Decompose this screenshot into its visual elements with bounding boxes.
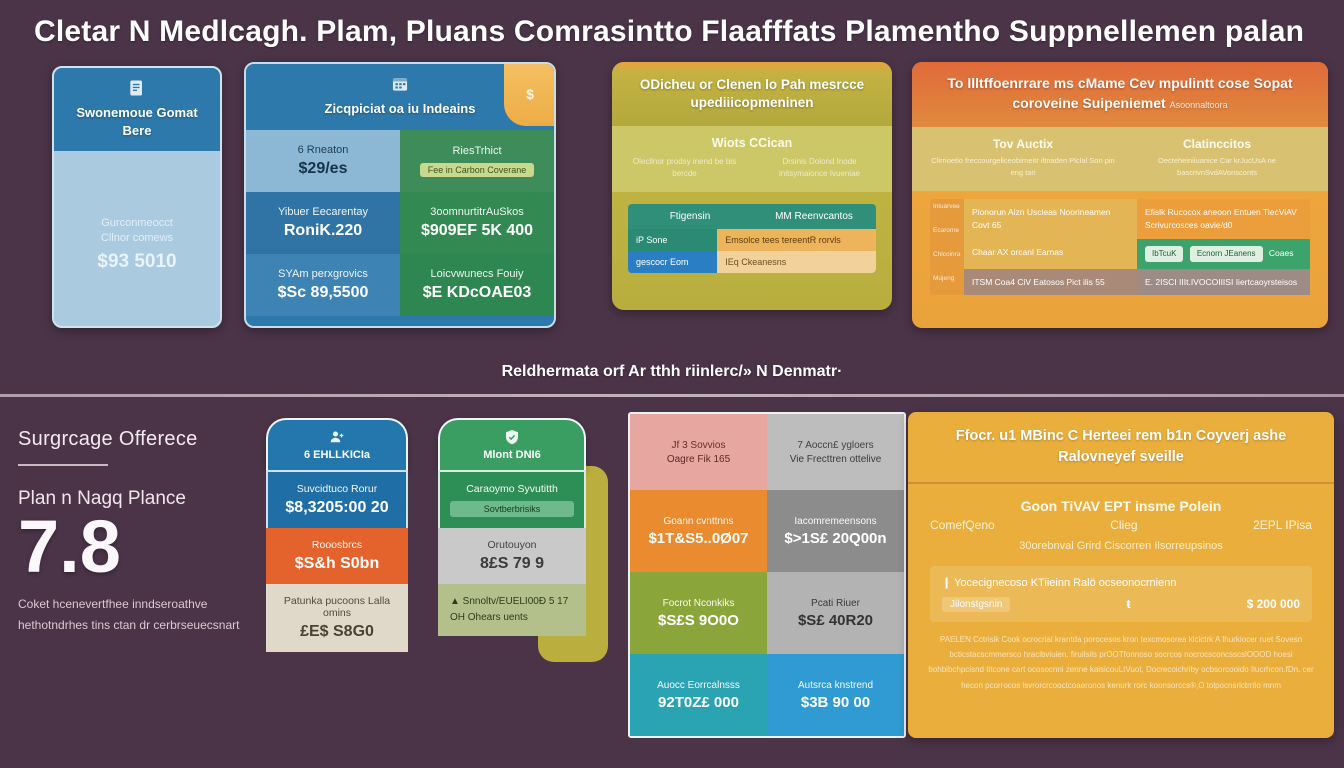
segment-value: £E$ S8G0 (276, 623, 398, 641)
bookmark-card-green[interactable]: Mlont DNI6 Caraoymo Syvutitth Sovtberbri… (438, 418, 586, 636)
olive-row-value: Emsolce tees tereentR rorvls (717, 229, 876, 251)
orange-cell[interactable]: ITSM Coa4 CiV Eatosos Pict ilis 55 (964, 269, 1137, 296)
shield-icon (503, 428, 521, 446)
orange-right-sub: Oecteheiniiuanice Car krJucUsA ne bascri… (1120, 155, 1314, 179)
cell-label: 3oomnurtitrAuSkos (410, 206, 544, 218)
stat-block: Surgrcage Offerece Plan n Nagq Plance 7.… (18, 428, 262, 635)
orange-mid-right: Clatinccitos Oecteheiniiuanice Car krJuc… (1120, 137, 1314, 179)
cell-label: RiesTrhict (410, 145, 544, 157)
bookmark-blue-segment[interactable]: Rooosbrcs $S&h S0bn (266, 528, 408, 584)
orange-cell[interactable]: Chaar AX orcanl Earnas (964, 239, 1137, 269)
cell-value: $29/es (256, 160, 390, 178)
card-orange-header: To llltffoenrrare ms cMame Cev mpulintt … (912, 62, 1328, 127)
segment-value: $8,3205:00 20 (278, 499, 396, 517)
cell-label: 6 Rneaton (256, 144, 390, 156)
panel-mid-right: 2EPL IPisa (1253, 518, 1312, 532)
card-orange-title: To llltffoenrrare ms cMame Cev mpulintt … (947, 75, 1292, 111)
matrix-value: $3B 90 00 (801, 694, 870, 711)
matrix-label: Goann cvnttnns (663, 516, 733, 527)
panel-box-value: $ 200 000 (1247, 597, 1300, 612)
olive-table-row[interactable]: gescocr Eom IEq Ckeanesns (628, 251, 876, 273)
plan-grid-cell[interactable]: RiesTrhict Fee in Carbon Coverane (400, 130, 554, 192)
matrix-cell[interactable]: Pcati Riuer $S£ 40R20 (767, 572, 904, 654)
matrix-label: Focrot Nconkiks (663, 598, 735, 609)
section-divider (0, 394, 1344, 397)
orange-right-title: Clatinccitos (1120, 137, 1314, 151)
orange-pill: IbTcuK (1145, 246, 1183, 262)
matrix-cell[interactable]: Focrot Nconkiks $S£S 9O0O (630, 572, 767, 654)
matrix-label: 7 Aoccn£ ygloers (797, 440, 873, 451)
matrix-cell[interactable]: Autsrca knstrend $3B 90 00 (767, 654, 904, 736)
olive-mid-left: Olecllnor prodsy inend be bis bercde (624, 156, 745, 180)
plan-grid-cell[interactable]: 6 Rneaton $29/es (246, 130, 400, 192)
matrix-label: Autsrca knstrend (798, 680, 873, 691)
olive-col-1: Ftigensin (628, 204, 752, 229)
cell-value: $909EF 5K 400 (410, 222, 544, 240)
bookmark-card-blue[interactable]: 6 EHLLKICIa Suvcidtuco Rorur $8,3205:00 … (266, 418, 408, 652)
bookmark-blue-segment[interactable]: Suvcidtuco Rorur $8,3205:00 20 (266, 470, 408, 528)
bookmark-green-segment[interactable]: ▲ Snnoltv/EUELI00Ð 5 17 OH Ohears uents (438, 584, 586, 636)
segment-value: $S&h S0bn (276, 555, 398, 573)
orange-pill: Ecnorn JEanens (1190, 246, 1263, 262)
olive-mid-right: Drsinis Dolond Inode initsymaionce Ivuen… (759, 156, 880, 180)
olive-row-value: IEq Ckeanesns (717, 251, 876, 273)
matrix-label: Iacomremeensons (794, 516, 876, 527)
card-plan-grid[interactable]: $ Zicqpiciat oa iu Indeains 6 Rneaton $2… (244, 62, 556, 328)
panel-mid-left: ComefQeno (930, 518, 995, 532)
panel-mid-sub: 30orebnval Grird Ciscorren Ilsorreupsino… (930, 540, 1312, 552)
orange-matrix: Inluarvee Ecarome Chlcoinra Mujeng Piono… (930, 199, 1310, 295)
segment-label: Suvcidtuco Rorur (278, 483, 396, 495)
stat-note: Coket hcenevertfhee inndseroathve hethot… (18, 594, 262, 635)
card-summary-body: Gurconmeocct Cllnor comews $93 5010 (54, 151, 220, 328)
matrix-cell[interactable]: Jf 3 Sovvios Oagre Fik 165 (630, 414, 767, 490)
rail-item: Ecarome (930, 223, 964, 247)
olive-table-header: Ftigensin MM Reenvcantos (628, 204, 876, 229)
card-summary[interactable]: Swonemoue Gomat Bere Gurconmeocct Cllnor… (52, 66, 222, 328)
svg-text:$: $ (526, 87, 534, 103)
orange-cell[interactable]: E. 2ISCI IIIt.IVOCOIIISI Iiertcaoyrsteis… (1137, 269, 1310, 296)
card-olive-header: ODicheu or Clenen lo Pah mesrcce upediii… (612, 62, 892, 126)
stat-heading: Surgrcage Offerece (18, 428, 262, 451)
panel-mid-gray: Clieg (1110, 518, 1137, 532)
panel-box-line: ❙ Yocecignecoso KTiieinn Ralö ocseonocrn… (942, 576, 1300, 589)
orange-cell[interactable]: Efislk Rucocox aneoon Entuen TiecViAV Sc… (1137, 199, 1310, 239)
cell-value: RoniK.220 (256, 222, 390, 240)
matrix-sub: Vie Frecttren ottelive (790, 454, 882, 465)
olive-row-label: gescocr Eom (628, 251, 717, 273)
price-badge[interactable]: $ (504, 62, 556, 126)
orange-row-rail: Inluarvee Ecarome Chlcoinra Mujeng (930, 199, 964, 295)
panel-box-label: Jilonstgsnin (942, 597, 1010, 612)
card-olive-mid: Wiots CCican Olecllnor prodsy inend be b… (612, 126, 892, 192)
olive-inner-table[interactable]: Ftigensin MM Reenvcantos iP Sone Emsolce… (628, 204, 876, 273)
section-title: Reldhermata orf Ar tthh riinlerc/» N Den… (0, 363, 1344, 381)
card-orange-mid: Tov Auctix Clirrioetio freccourgeliceobi… (912, 127, 1328, 191)
matrix-value: $S£ 40R20 (798, 612, 873, 629)
rail-item: Inluarvee (930, 199, 964, 223)
card-plan-grid-title: Zicqpiciat oa iu Indeains (325, 101, 476, 116)
calendar-icon (390, 74, 410, 94)
cell-label: SYAm perxgrovics (256, 268, 390, 280)
segment-value: 8£S 79 9 (448, 555, 576, 573)
panel-mid-title: Goon TiVAV EPT insme Polein (930, 498, 1312, 514)
orange-left-title: Tov Auctix (926, 137, 1120, 151)
plan-grid-cell[interactable]: 3oomnurtitrAuSkos $909EF 5K 400 (400, 192, 554, 254)
panel-amber-header: Ffocr. u1 MBinc C Herteei rem b1n Coyver… (908, 412, 1334, 484)
dollar-icon: $ (520, 83, 540, 105)
bookmark-blue-segment[interactable]: Patunka pucoons Lalla omins £E$ S8G0 (266, 584, 408, 652)
matrix-label: Pcati Riuer (811, 598, 860, 609)
page-title: Cletar N Medlcagh. Plam, Pluans Comrasin… (0, 6, 1344, 58)
matrix-cell[interactable]: 7 Aoccn£ ygloers Vie Frecttren ottelive (767, 414, 904, 490)
matrix-sub: Oagre Fik 165 (667, 454, 730, 465)
bookmark-green-segment[interactable]: Orutouyon 8£S 79 9 (438, 528, 586, 584)
matrix-value: $S£S 9O0O (658, 612, 739, 629)
stat-rule (18, 464, 108, 466)
plan-grid-cell[interactable]: Yibuer Eecarentay RoniK.220 (246, 192, 400, 254)
matrix-cell[interactable]: Iacomremeensons $>1S£ 20Q00n (767, 490, 904, 572)
orange-mid-left: Tov Auctix Clirrioetio freccourgeliceobi… (926, 137, 1120, 179)
segment-label: Orutouyon (448, 539, 576, 551)
olive-table-row[interactable]: iP Sone Emsolce tees tereentR rorvls (628, 229, 876, 251)
card-summary-label-1: Gurconmeocct (101, 217, 173, 229)
olive-col-2: MM Reenvcantos (752, 204, 876, 229)
bookmark-green-segment[interactable]: Caraoymo Syvutitth Sovtberbrisiks (438, 470, 586, 528)
bookmark-blue-header: 6 EHLLKICIa (266, 418, 408, 470)
cell-label: Loicvwunecs Fouiy (410, 268, 544, 280)
card-comparison-orange[interactable]: To llltffoenrrare ms cMame Cev mpulintt … (912, 62, 1328, 328)
orange-left-sub: Clirrioetio freccourgeliceobirneitr iltn… (926, 155, 1120, 179)
user-icon (328, 428, 346, 446)
segment-label: Caraoymo Syvutitth (450, 483, 574, 495)
cell-pill: Fee in Carbon Coverane (420, 163, 535, 177)
matrix-label: Jf 3 Sovvios (672, 440, 726, 451)
card-summary-value: $93 5010 (97, 251, 176, 273)
plan-grid-cell[interactable]: Loicvwunecs Fouiy $E KDcOAE03 (400, 254, 554, 316)
olive-row-label: iP Sone (628, 229, 717, 251)
bookmark-green-title: Mlont DNI6 (483, 449, 540, 461)
page-root: Cletar N Medlcagh. Plam, Pluans Comrasin… (0, 0, 1344, 768)
segment-label: Patunka pucoons Lalla omins (276, 595, 398, 619)
card-summary-label-2: Cllnor comews (101, 232, 173, 244)
matrix-cell[interactable]: Goann cvnttnns $1T&S5..0Ø07 (630, 490, 767, 572)
orange-cell[interactable]: IbTcuK Ecnorn JEanens Coaes (1137, 239, 1310, 269)
matrix-cell[interactable]: Auocc Eorrcalnsss 92T0Z£ 000 (630, 654, 767, 736)
plan-grid: 6 Rneaton $29/es RiesTrhict Fee in Carbo… (246, 130, 554, 316)
panel-box-tag: ŧ (1126, 597, 1130, 612)
cell-value: $E KDcOAE03 (410, 284, 544, 302)
olive-mid-title: Wiots CCican (624, 136, 880, 150)
cell-value: $Sc 89,5500 (256, 284, 390, 302)
stat-value: 7.8 (18, 512, 262, 582)
card-coverage-olive[interactable]: ODicheu or Clenen lo Pah mesrcce upediii… (612, 62, 892, 310)
matrix-label: Auocc Eorrcalnsss (657, 680, 740, 691)
segment-pill: Sovtberbrisiks (450, 501, 574, 517)
card-orange-subtitle: Asoonnaltoora (1170, 100, 1228, 110)
plan-grid-cell[interactable]: SYAm perxgrovics $Sc 89,5500 (246, 254, 400, 316)
panel-amber-mid: Goon TiVAV EPT insme Polein ComefQeno Cl… (908, 484, 1334, 556)
card-summary-header: Swonemoue Gomat Bere (54, 68, 220, 151)
matrix-value: 92T0Z£ 000 (658, 694, 739, 711)
rail-item: Chlcoinra (930, 247, 964, 271)
segment-label: Rooosbrcs (276, 539, 398, 551)
cell-label: Yibuer Eecarentay (256, 206, 390, 218)
bookmark-blue-title: 6 EHLLKICIa (304, 449, 370, 461)
panel-highlight-amber[interactable]: Ffocr. u1 MBinc C Herteei rem b1n Coyver… (908, 412, 1334, 738)
orange-cell[interactable]: Pionorun Aizn Uscleas Noorineamen Covt 6… (964, 199, 1137, 239)
bookmark-green-header: Mlont DNI6 (438, 418, 586, 470)
panel-amber-box[interactable]: ❙ Yocecignecoso KTiieinn Ralö ocseonocrn… (930, 566, 1312, 622)
document-icon (127, 78, 147, 98)
matrix-value: $1T&S5..0Ø07 (648, 530, 748, 547)
rail-item: Mujeng (930, 271, 964, 295)
card-summary-title: Swonemoue Gomat Bere (76, 105, 197, 138)
orange-cell-text: Coaes (1269, 248, 1294, 258)
panel-amber-footnote: PAELEN Cctrisik Cook ocrocriai krantda p… (908, 622, 1334, 693)
matrix-value: $>1S£ 20Q00n (784, 530, 886, 547)
benefit-matrix: Jf 3 Sovvios Oagre Fik 165 7 Aoccn£ yglo… (628, 412, 906, 738)
